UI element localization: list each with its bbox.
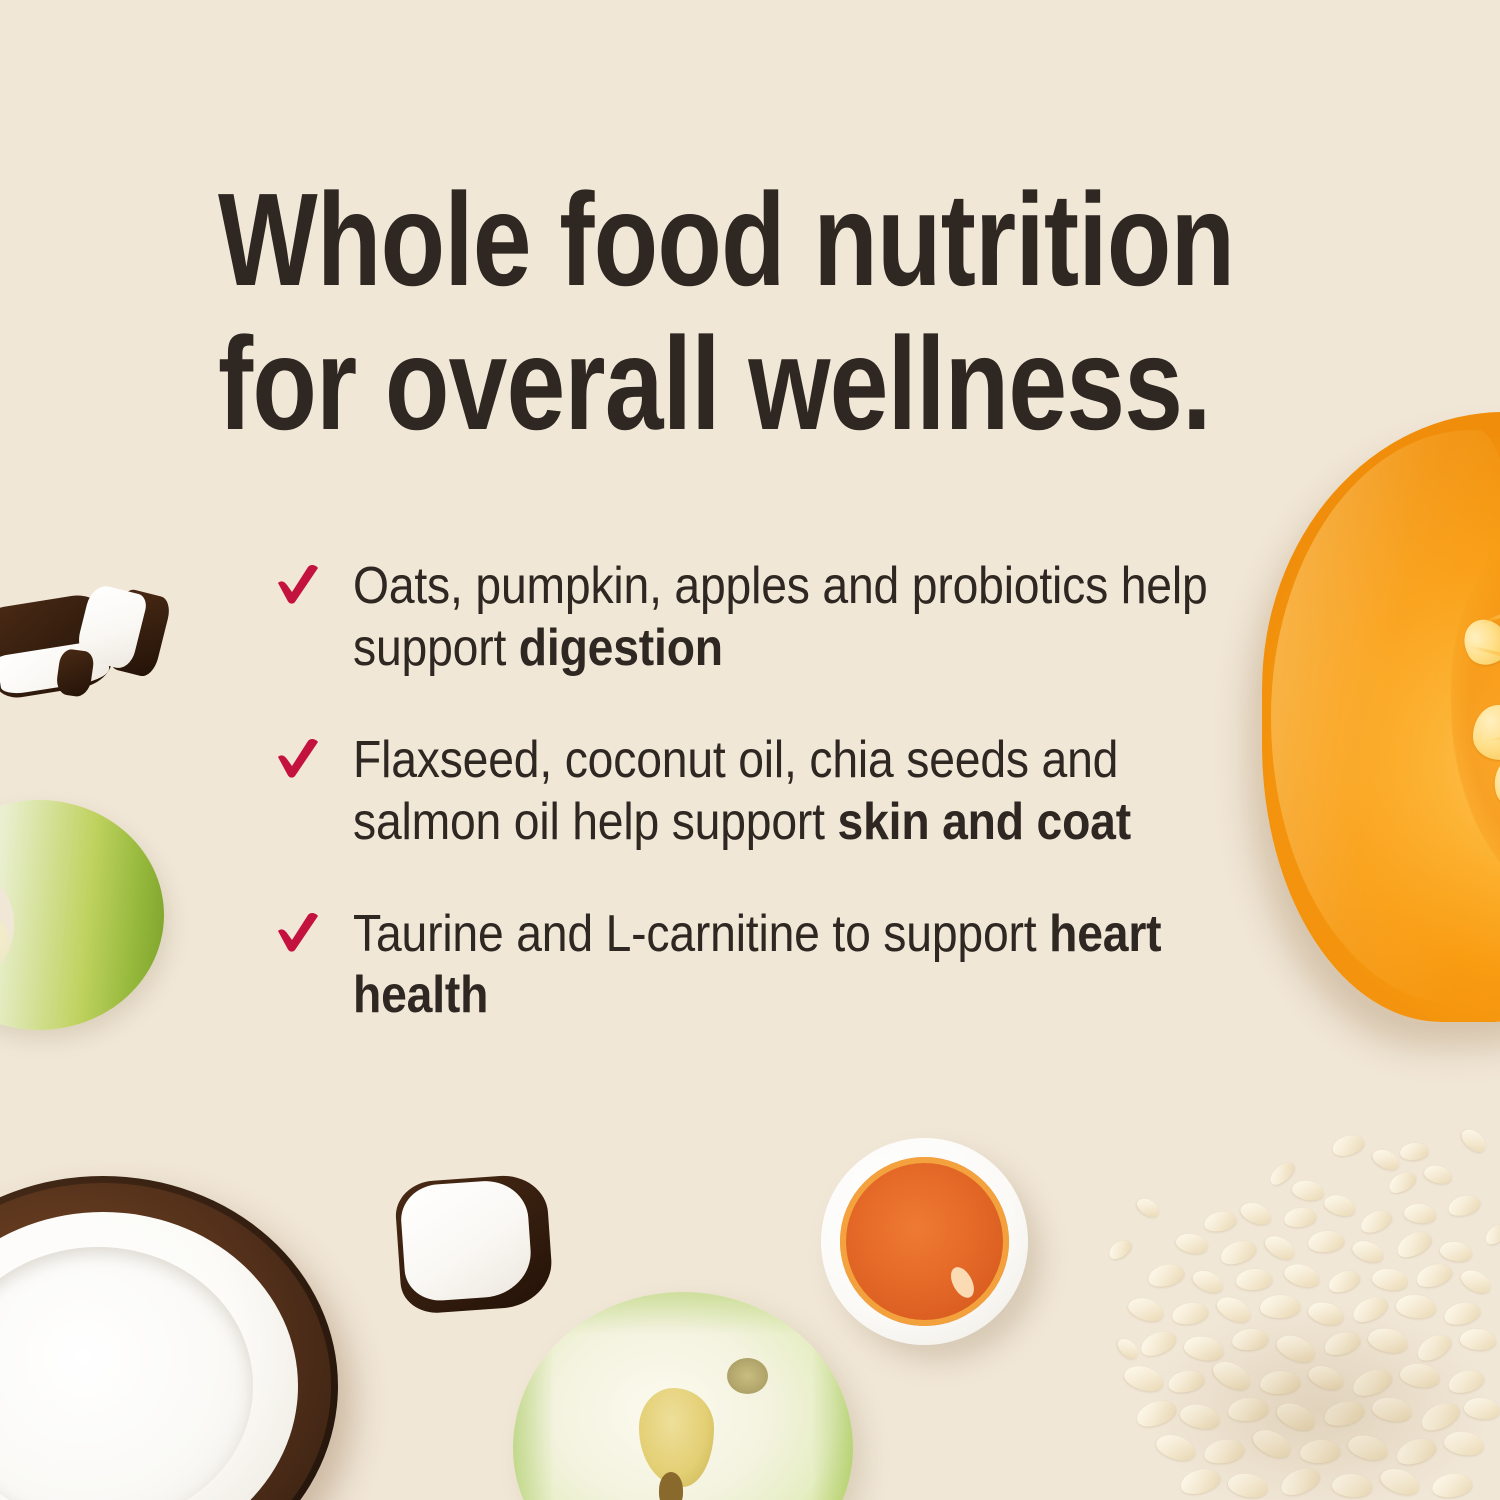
apple-stem-well [727, 1358, 768, 1394]
apple-seed [659, 1472, 683, 1500]
check-icon [275, 738, 321, 778]
benefit-emphasis-1: digestion [519, 619, 723, 677]
list-item: Oats, pumpkin, apples and probiotics hel… [275, 556, 1235, 680]
list-item-text: Oats, pumpkin, apples and probiotics hel… [353, 556, 1232, 680]
apple-slice-photo [0, 800, 164, 1030]
headline-line-1: Whole food nutrition [218, 168, 1098, 312]
list-item-text: Flaxseed, coconut oil, chia seeds and sa… [353, 730, 1232, 854]
oil-surface [840, 1157, 1010, 1327]
benefits-list: Oats, pumpkin, apples and probiotics hel… [275, 556, 1235, 1027]
list-item-text: Taurine and L-carnitine to support heart… [353, 904, 1232, 1028]
benefit-emphasis-2: skin and coat [838, 793, 1131, 851]
promo-banner: Whole food nutrition for overall wellnes… [0, 0, 1500, 1500]
check-icon [275, 564, 321, 604]
salmon-oil-bowl-photo [821, 1138, 1028, 1345]
rolled-oats-photo [1108, 1128, 1500, 1500]
pumpkin-half-photo [1262, 412, 1500, 1022]
coconut-half-photo [0, 1176, 338, 1500]
list-item: Taurine and L-carnitine to support heart… [275, 904, 1235, 1028]
benefit-lead-1: Oats, pumpkin, apples and probiotics hel… [353, 557, 1208, 677]
apple-half-photo [513, 1292, 853, 1500]
headline-line-2: for overall wellness. [218, 312, 1098, 456]
page-title: Whole food nutrition for overall wellnes… [218, 168, 1098, 456]
coconut-chunk-photo [394, 1173, 555, 1315]
coconut-chunk-photo [55, 648, 95, 698]
list-item: Flaxseed, coconut oil, chia seeds and sa… [275, 730, 1235, 854]
apple-slice-flesh [0, 800, 164, 1030]
benefit-lead-3: Taurine and L-carnitine to support [353, 905, 1049, 963]
check-icon [275, 912, 321, 952]
